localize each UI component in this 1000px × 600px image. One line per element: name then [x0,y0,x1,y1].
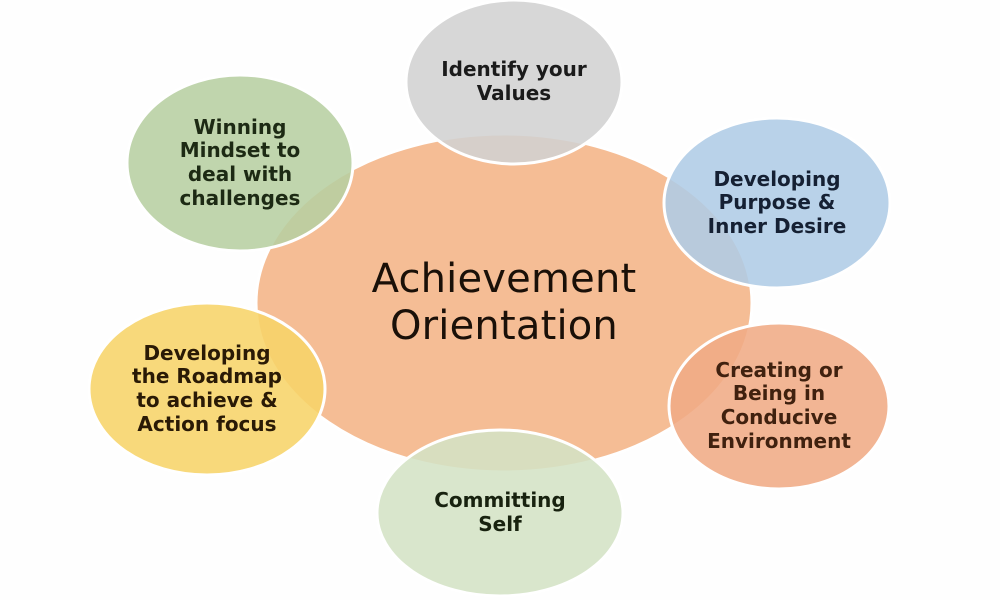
satellite-ellipse-developing-purpose-inner-desire[interactable] [664,118,890,288]
satellite-ellipse-winning-mindset[interactable] [127,75,353,251]
satellite-ellipse-identify-your-values[interactable] [406,0,622,164]
diagram-canvas: Achievement Orientation Identify your Va… [0,0,1000,600]
satellite-ellipse-committing-self[interactable] [377,430,623,596]
satellite-ellipse-creating-conducive-environment[interactable] [669,323,889,489]
satellite-ellipse-developing-roadmap[interactable] [89,303,325,475]
bubble-shapes-layer [0,0,1000,600]
